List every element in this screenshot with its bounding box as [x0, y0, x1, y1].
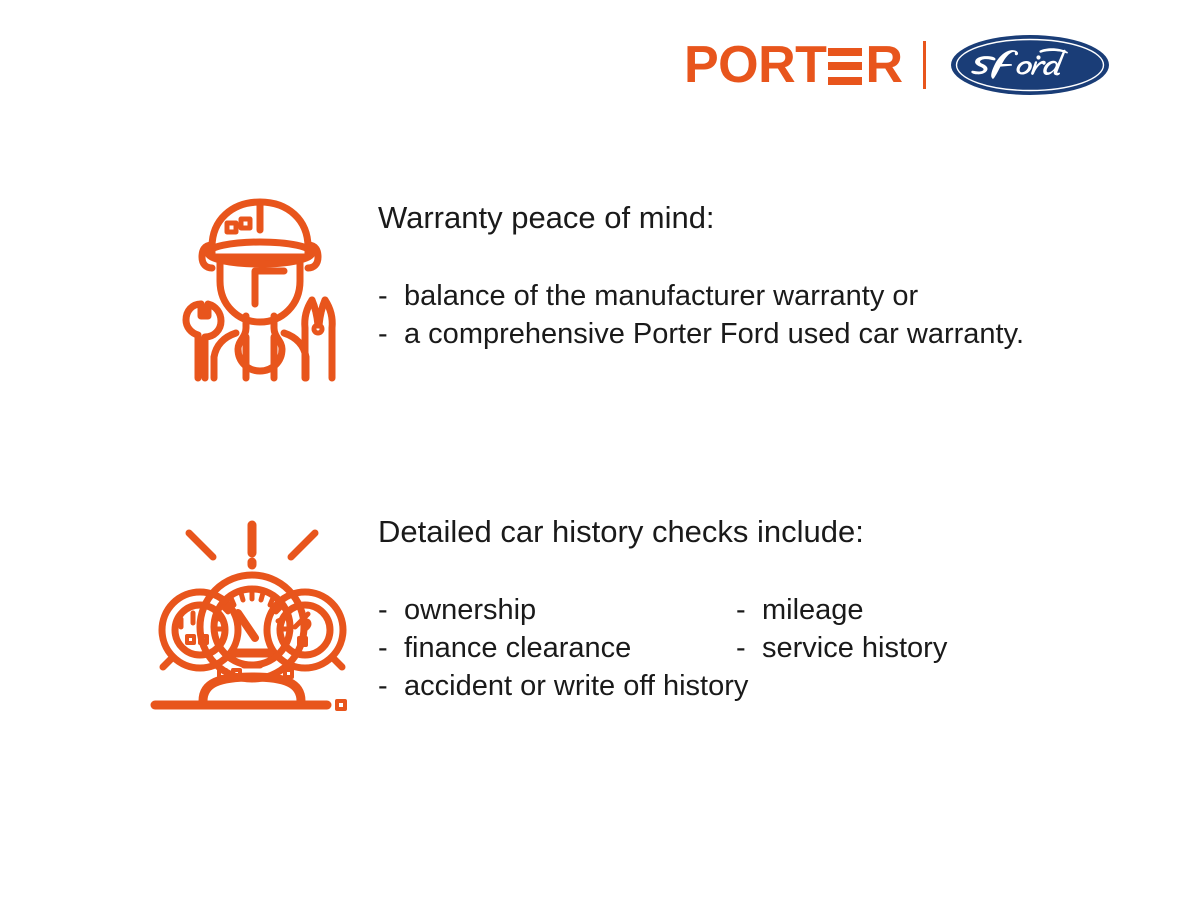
bullet-label: mileage [762, 592, 864, 630]
section-warranty: Warranty peace of mind: - balance of the… [160, 185, 1024, 385]
bullet-label: ownership [404, 592, 536, 630]
mechanic-with-tools-icon [160, 185, 360, 385]
warranty-text-body: Warranty peace of mind: - balance of the… [378, 185, 1024, 354]
ford-oval-logo[interactable] [950, 34, 1110, 96]
bullet-dash: - [378, 278, 404, 316]
section-history-checks: Detailed car history checks include: - o… [145, 505, 947, 720]
history-text-body: Detailed car history checks include: - o… [378, 505, 947, 705]
history-bullet-grid: - ownership - mileage - finance clearanc… [378, 592, 947, 705]
list-item: - service history [736, 630, 947, 668]
history-heading: Detailed car history checks include: [378, 513, 947, 550]
bullet-label: balance of the manufacturer warranty or [404, 278, 918, 316]
bullet-label: service history [762, 630, 947, 668]
bullet-label: finance clearance [404, 630, 631, 668]
list-item: - finance clearance [378, 630, 736, 668]
porter-wordmark-part2: R [865, 39, 902, 91]
list-item: - a comprehensive Porter Ford used car w… [378, 316, 1024, 354]
bullet-label: accident or write off history [404, 668, 748, 706]
warranty-heading: Warranty peace of mind: [378, 199, 1024, 236]
bullet-dash: - [378, 668, 404, 706]
bullet-dash: - [378, 316, 404, 354]
warranty-bullet-list: - balance of the manufacturer warranty o… [378, 278, 1024, 353]
list-item: - accident or write off history [378, 668, 947, 706]
brand-divider [923, 41, 926, 89]
list-item: - ownership [378, 592, 736, 630]
porter-logo[interactable]: PORT R [684, 38, 903, 92]
bullet-dash: - [378, 630, 404, 668]
porter-stylised-e-icon [828, 48, 862, 85]
bullet-dash: - [736, 630, 762, 668]
list-item: - balance of the manufacturer warranty o… [378, 278, 1024, 316]
car-dashboard-gauges-icon [145, 505, 360, 720]
bullet-dash: - [378, 592, 404, 630]
bullet-dash: - [736, 592, 762, 630]
brand-lockup: PORT R [684, 30, 1144, 100]
list-item: - mileage [736, 592, 947, 630]
bullet-label: a comprehensive Porter Ford used car war… [404, 316, 1024, 354]
porter-wordmark-part1: PORT [684, 39, 826, 91]
